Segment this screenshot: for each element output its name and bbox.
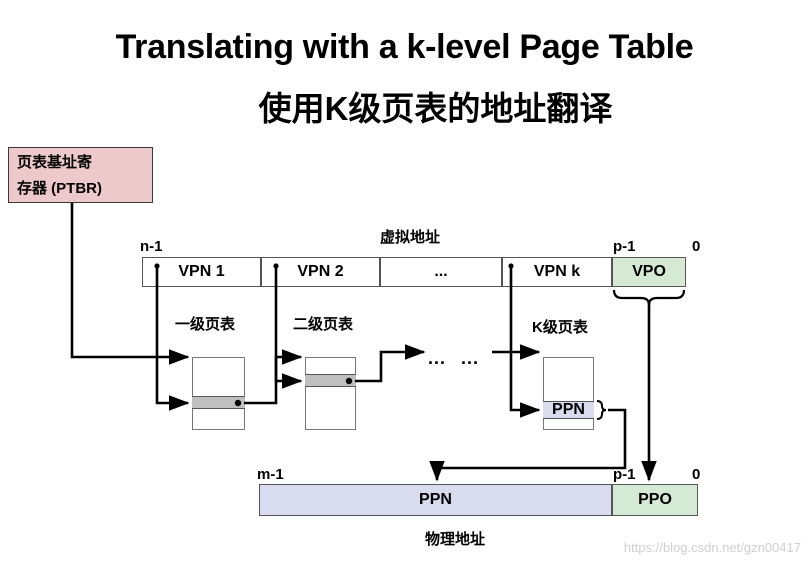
va-tap-dots	[154, 263, 513, 268]
arrow-vpnk-to-tablek-entry	[511, 264, 539, 410]
arrow-vpn2-to-table2-entry	[276, 264, 301, 381]
vpo-brace	[614, 290, 684, 305]
arrow-vpn1-to-table1-entry	[157, 264, 188, 403]
connector-diagram	[0, 0, 809, 565]
arrow-ppn-to-physical-address	[437, 410, 625, 480]
arrow-ptbr-to-table1	[72, 203, 188, 357]
ppn-entry-brace	[597, 401, 606, 419]
arrow-table2-to-ellipsis	[355, 352, 424, 381]
slide-canvas: Translating with a k-level Page Table 使用…	[0, 0, 809, 565]
